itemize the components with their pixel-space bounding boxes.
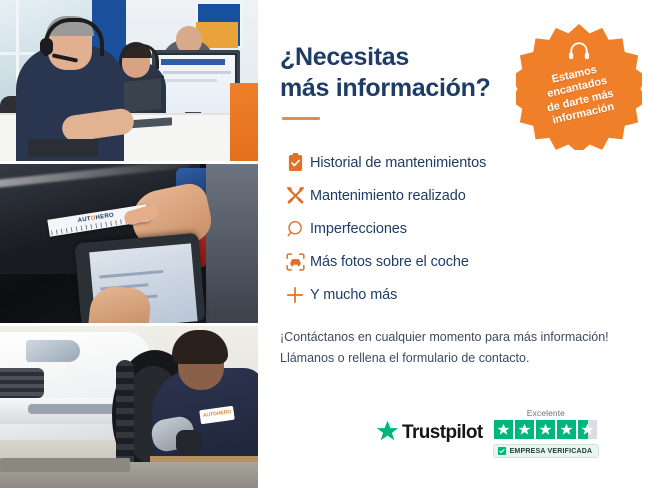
feature-item-mantenimiento: Mantenimiento realizado [280, 179, 628, 212]
feature-item-mas: Y mucho más [280, 278, 628, 311]
glove-cuff [176, 430, 202, 454]
second-agent-headset-icon [119, 44, 159, 69]
trustpilot-rating-block[interactable]: Trustpilot Excelente [376, 408, 599, 458]
trustpilot-rating-label: Excelente [527, 408, 565, 418]
feature-label: Historial de mantenimientos [310, 155, 486, 171]
desk-tablet [28, 139, 98, 157]
feature-item-historial: Historial de mantenimientos [280, 146, 628, 179]
car-grille [0, 368, 44, 398]
photo-call-center [0, 0, 258, 161]
trustpilot-stars [494, 420, 597, 439]
contact-text: ¡Contáctanos en cualquier momento para m… [280, 327, 628, 370]
feature-label: Imperfecciones [310, 221, 407, 237]
photo-mechanic-wheel: AUTOHERO [0, 326, 258, 488]
trustpilot-wordmark: Trustpilot [402, 422, 483, 444]
feature-item-fotos: Más fotos sobre el coche [280, 245, 628, 278]
trustpilot-star-filled [557, 420, 576, 439]
monitor-screen [157, 55, 235, 113]
title-underline-rule [282, 117, 320, 120]
feature-label: Y mucho más [310, 287, 397, 303]
feature-label: Más fotos sobre el coche [310, 254, 469, 270]
page-title-line-1: ¿Necesitas [280, 43, 409, 71]
promo-starburst-badge: Estamos encantados de darte más informac… [516, 24, 642, 150]
plus-icon [280, 286, 310, 304]
trustpilot-score-area: Excelente [493, 408, 600, 458]
monitor-screen-row [163, 71, 231, 74]
trustpilot-star-half [578, 420, 597, 439]
car-photo-frame-icon [280, 253, 310, 271]
content-panel: ¿Necesitas más información? Estamos enca… [258, 0, 650, 488]
car-lift-arm [0, 458, 130, 472]
car-headlight [26, 340, 80, 362]
magnifier-icon [280, 220, 310, 238]
trustpilot-star-icon [376, 420, 399, 447]
trustpilot-star-filled [515, 420, 534, 439]
verified-company-label: EMPRESA VERIFICADA [510, 448, 593, 455]
headset-earpad [40, 38, 53, 55]
tire-tread [116, 360, 134, 470]
page-title: ¿Necesitas más información? [280, 42, 510, 103]
tablet-screen-row [99, 270, 163, 279]
clipboard-check-icon [280, 153, 310, 172]
orange-equipment [230, 83, 258, 161]
feature-list: Historial de mantenimientos Mantenimient… [280, 146, 628, 311]
page-title-line-2: más información? [280, 74, 491, 102]
bumper-vent [28, 404, 120, 414]
feature-label: Mantenimiento realizado [310, 188, 466, 204]
verified-company-badge: EMPRESA VERIFICADA [493, 444, 600, 458]
main-agent-headset-icon [44, 18, 104, 56]
monitor-screen-header [161, 59, 225, 65]
uniform-brand-label: AUTOHERO [203, 409, 232, 419]
monitor-screen-row [163, 79, 217, 82]
feature-item-imperfecciones: Imperfecciones [280, 212, 628, 245]
info-banner: AUTOHERO [0, 0, 650, 488]
photo-car-inspection: AUTOHERO [0, 164, 258, 323]
ruler-brand-part1: AUT [77, 216, 91, 224]
verified-check-icon [498, 447, 506, 455]
inspector-torso [206, 164, 258, 323]
trustpilot-logo[interactable]: Trustpilot [376, 420, 483, 447]
contact-text-line-2: Llámanos o rellena el formulario de cont… [280, 348, 628, 369]
headset-icon [568, 41, 590, 66]
tools-cross-icon [280, 186, 310, 205]
contact-text-line-1: ¡Contáctanos en cualquier momento para m… [280, 327, 628, 348]
trustpilot-star-filled [494, 420, 513, 439]
trustpilot-star-filled [536, 420, 555, 439]
photo-column: AUTOHERO [0, 0, 258, 488]
